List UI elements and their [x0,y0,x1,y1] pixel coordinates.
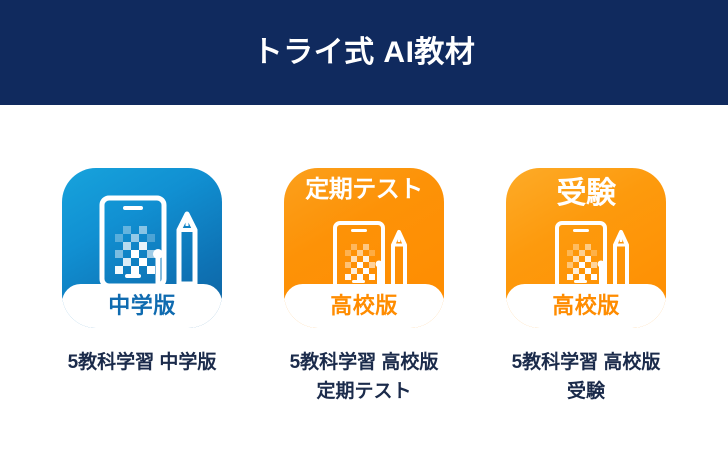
app-icon-highschool-entrance-exam[interactable]: 受験 [506,168,666,328]
product-card-list: 中学版 5教科学習 中学版 定期テスト [0,105,728,466]
icon-banner: 高校版 [506,284,666,328]
product-card[interactable]: 定期テスト [283,168,445,407]
icon-top-label: 受験 [506,177,666,212]
page-root: トライ式 AI教材 [0,0,728,466]
product-card-caption: 5教科学習 高校版 受験 [512,348,661,407]
product-card[interactable]: 受験 [505,168,667,407]
product-card-caption: 5教科学習 高校版 定期テスト [290,348,439,407]
icon-banner-label: 中学版 [108,295,176,317]
app-icon-junior-high[interactable]: 中学版 [62,168,222,328]
icon-top-label: 定期テスト [284,176,444,204]
icon-banner: 高校版 [284,284,444,328]
product-card-caption: 5教科学習 中学版 [68,348,217,377]
page-header: トライ式 AI教材 [0,0,728,105]
icon-banner: 中学版 [62,284,222,328]
icon-banner-label: 高校版 [330,295,398,317]
product-card[interactable]: 中学版 5教科学習 中学版 [61,168,223,377]
page-title: トライ式 AI教材 [253,38,476,68]
icon-banner-label: 高校版 [552,295,620,317]
app-icon-highschool-regular-test[interactable]: 定期テスト [284,168,444,328]
